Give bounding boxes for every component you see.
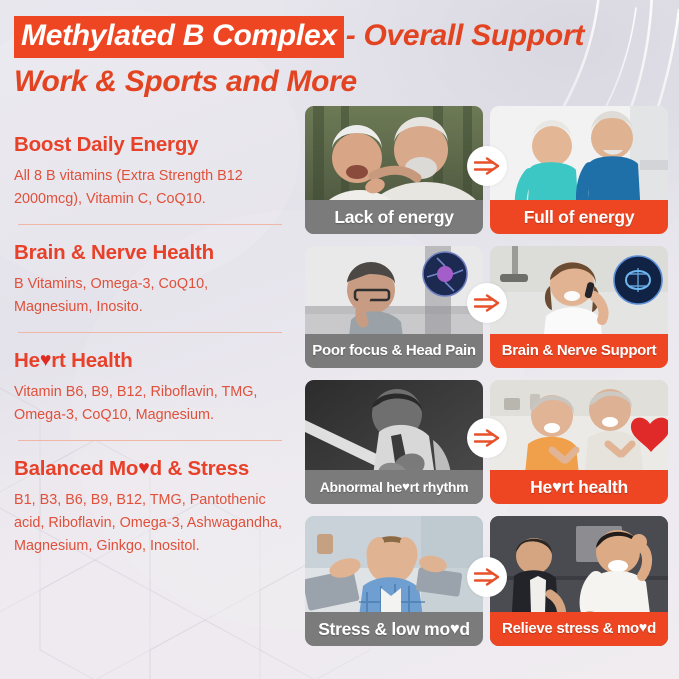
- heart-icon: ♥: [138, 455, 149, 481]
- benefit-item-heart: He♥rt Health Vitamin B6, B9, B12, Ribofl…: [14, 348, 286, 427]
- caption-text-post: d: [647, 620, 656, 637]
- benefit-item-brain: Brain & Nerve Health B Vitamins, Omega-3…: [14, 240, 286, 319]
- benefit-body: All 8 B vitamins (Extra Strength B12 200…: [14, 165, 286, 211]
- arrow-glyph: [474, 157, 500, 175]
- caption-text: Full of energy: [524, 207, 635, 227]
- benefit-heading-text: He: [14, 349, 40, 372]
- caption-after: Full of energy: [490, 200, 668, 234]
- arrow-glyph: [474, 568, 500, 586]
- comparison-row-heart: Abnormal he♥rt rhythm: [305, 380, 669, 504]
- caption-text: Relieve stress & mo: [502, 620, 639, 637]
- heart-icon: ♥: [450, 612, 460, 646]
- double-arrow-right-icon: [467, 557, 507, 597]
- benefit-body: B Vitamins, Omega-3, CoQ10, Magnesium, I…: [14, 273, 286, 319]
- heart-icon: ♥: [552, 470, 562, 504]
- before-tile-mood: Stress & low mo♥d: [305, 516, 483, 646]
- caption-text: Poor focus & Head Pain: [312, 342, 475, 359]
- divider: [18, 332, 282, 333]
- divider: [18, 224, 282, 225]
- title-rest: - Overall Support: [346, 19, 584, 52]
- benefit-item-energy: Boost Daily Energy All 8 B vitamins (Ext…: [14, 132, 286, 211]
- before-tile-energy: Lack of energy: [305, 106, 483, 234]
- benefit-heading: He♥rt Health: [14, 348, 286, 374]
- caption-before: Lack of energy: [305, 200, 483, 234]
- divider: [18, 440, 282, 441]
- benefit-heading-text-post: d & Stress: [150, 457, 249, 480]
- caption-text: Abnormal he: [320, 479, 402, 495]
- heart-icon: ♥: [402, 470, 410, 504]
- caption-after: He♥rt health: [490, 470, 668, 504]
- after-tile-heart: He♥rt health: [490, 380, 668, 504]
- caption-text: Lack of energy: [334, 207, 453, 227]
- caption-text: Stress & low mo: [318, 619, 450, 639]
- double-arrow-right-icon: [467, 283, 507, 323]
- after-tile-energy: Full of energy: [490, 106, 668, 234]
- benefit-heading-text: Balanced Mo: [14, 457, 138, 480]
- before-tile-heart: Abnormal he♥rt rhythm: [305, 380, 483, 504]
- caption-before: Abnormal he♥rt rhythm: [305, 470, 483, 504]
- benefit-heading-text: Boost Daily Energy: [14, 133, 198, 156]
- heart-icon: ♥: [639, 612, 647, 645]
- comparison-row-brain: Poor focus & Head Pain: [305, 246, 669, 368]
- caption-before: Poor focus & Head Pain: [305, 334, 483, 368]
- header: Methylated B Complex- Overall Support Wo…: [0, 0, 679, 102]
- benefit-body: B1, B3, B6, B9, B12, TMG, Pantothenic ac…: [14, 489, 286, 558]
- caption-after: Relieve stress & mo♥d: [490, 612, 668, 646]
- title-highlight: Methylated B Complex: [14, 16, 344, 58]
- benefit-item-mood: Balanced Mo♥d & Stress B1, B3, B6, B9, B…: [14, 456, 286, 558]
- benefit-heading-text-post: rt Health: [51, 349, 132, 372]
- caption-after: Brain & Nerve Support: [490, 334, 668, 368]
- after-tile-mood: Relieve stress & mo♥d: [490, 516, 668, 646]
- heart-icon: ♥: [40, 347, 51, 373]
- caption-text: Brain & Nerve Support: [502, 342, 657, 359]
- after-tile-brain: Brain & Nerve Support: [490, 246, 668, 368]
- caption-text-post: rt rhythm: [410, 479, 469, 495]
- benefit-heading: Balanced Mo♥d & Stress: [14, 456, 286, 482]
- arrow-glyph: [474, 429, 500, 447]
- comparison-row-mood: Stress & low mo♥d: [305, 516, 669, 646]
- benefit-heading: Brain & Nerve Health: [14, 240, 286, 266]
- page-title-line-1: Methylated B Complex- Overall Support: [14, 16, 665, 58]
- product-infographic: Methylated B Complex- Overall Support Wo…: [0, 0, 679, 679]
- caption-text: He: [530, 477, 552, 497]
- caption-text-post: d: [459, 619, 469, 639]
- comparison-row-energy: Lack of energy: [305, 106, 669, 234]
- benefit-body: Vitamin B6, B9, B12, Riboflavin, TMG, Om…: [14, 381, 286, 427]
- benefit-heading-text: Brain & Nerve Health: [14, 241, 214, 264]
- double-arrow-right-icon: [467, 146, 507, 186]
- arrow-glyph: [474, 294, 500, 312]
- page-title-line-2: Work & Sports and More: [14, 62, 665, 102]
- benefit-heading: Boost Daily Energy: [14, 132, 286, 158]
- caption-text-post: rt health: [562, 477, 628, 497]
- double-arrow-right-icon: [467, 418, 507, 458]
- benefits-list: Boost Daily Energy All 8 B vitamins (Ext…: [14, 132, 286, 558]
- before-tile-brain: Poor focus & Head Pain: [305, 246, 483, 368]
- caption-before: Stress & low mo♥d: [305, 612, 483, 646]
- comparison-grid: Lack of energy: [305, 106, 669, 646]
